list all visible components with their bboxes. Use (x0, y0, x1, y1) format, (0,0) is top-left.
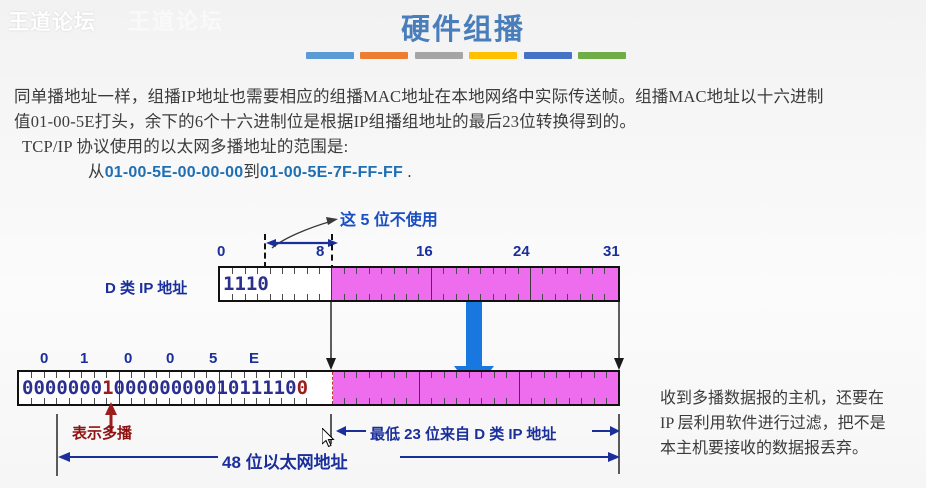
byte-divider (331, 268, 332, 300)
ruler-tick-16: 16 (416, 243, 433, 260)
low23-note: 最低 23 位来自 D 类 IP 地址 (370, 423, 556, 444)
tick (556, 398, 557, 404)
tick (569, 372, 570, 378)
ip-row-label: D 类 IP 地址 (105, 277, 187, 298)
tick (356, 294, 357, 300)
range-suffix: . (403, 162, 412, 181)
ip-bar-multicast-group-segment (331, 268, 618, 300)
mac-multicast-bit: 1 (102, 377, 113, 399)
tick (506, 372, 507, 378)
tick (344, 268, 345, 274)
tick (531, 372, 532, 378)
connector-arrow-right (613, 302, 626, 372)
page-title: 硬件组播 (0, 6, 926, 48)
hex-label-2: 0 (124, 350, 132, 367)
mac-byte1-bits: 0000000 (22, 377, 102, 399)
tick (319, 294, 320, 300)
mac-bit25: 0 (297, 377, 308, 399)
tick (356, 268, 357, 274)
hex-label-1: 1 (80, 350, 88, 367)
unused-bits-span-arrow (264, 236, 340, 250)
tick (443, 268, 444, 274)
tick (542, 294, 543, 300)
tick (418, 294, 419, 300)
tick (394, 268, 395, 274)
tick (594, 372, 595, 378)
total-width-note: 48 位以太网地址 (222, 448, 348, 473)
tick (556, 372, 557, 378)
range-middle: 到 (243, 162, 260, 181)
right-note-line-1: 收到多播数据报的主机，还要在 (660, 386, 922, 411)
tick (406, 372, 407, 378)
tick (406, 294, 407, 300)
tick (406, 268, 407, 274)
mac-bits: 0000000100000000010111100 (22, 377, 308, 399)
tick (505, 294, 506, 300)
tick (481, 372, 482, 378)
unused-bits-left-dash (264, 234, 266, 268)
tick (319, 268, 320, 274)
hex-label-3: 0 (166, 350, 174, 367)
unused-bits-note: 这 5 位不使用 (340, 206, 438, 230)
swatch-5 (578, 52, 626, 59)
tick (456, 268, 457, 274)
tick (369, 294, 370, 300)
mac-byte3-bits: 01011110 (205, 377, 297, 399)
tick (282, 294, 283, 300)
body-line-4: 从01-00-5E-00-00-00到01-00-5E-7F-FF-FF . (14, 159, 914, 185)
hex-label-5: E (249, 350, 259, 367)
mac-range-end: 01-00-5E-7F-FF-FF (260, 164, 403, 181)
tick (381, 398, 382, 404)
tick (431, 398, 432, 404)
tick (344, 294, 345, 300)
ruler-tick-31: 31 (603, 243, 620, 260)
tick (542, 268, 543, 274)
tick (381, 268, 382, 274)
tick (505, 268, 506, 274)
tick (567, 268, 568, 274)
tick (604, 268, 605, 274)
tick (282, 268, 283, 274)
byte-divider (519, 372, 520, 404)
byte-divider (431, 268, 432, 300)
tick (592, 268, 593, 274)
tick (356, 372, 357, 378)
tick (406, 398, 407, 404)
tick (456, 372, 457, 378)
range-prefix: 从 (88, 162, 105, 181)
swatch-2 (415, 52, 463, 59)
tick (456, 398, 457, 404)
total-left-bracket (56, 414, 58, 476)
tick (581, 398, 582, 404)
byte-divider (419, 372, 420, 404)
tick (580, 268, 581, 274)
tick (307, 294, 308, 300)
right-note-line-2: IP 层利用软件进行过滤，把不是 (660, 411, 922, 436)
mac-address-bar: 0000000100000000010111100 (17, 370, 620, 406)
tick (468, 294, 469, 300)
low23-right-arrow (592, 424, 620, 438)
ip-address-bar: 1110 (218, 266, 620, 302)
tick (381, 372, 382, 378)
tick (369, 372, 370, 378)
tick (518, 294, 519, 300)
tick (518, 268, 519, 274)
low23-right-bracket (618, 414, 620, 474)
title-swatch-row (306, 52, 626, 59)
tick (506, 398, 507, 404)
tick (369, 268, 370, 274)
tick (294, 268, 295, 274)
tick (555, 268, 556, 274)
tick (270, 268, 271, 274)
swatch-1 (360, 52, 408, 59)
swatch-0 (306, 52, 354, 59)
tick (493, 268, 494, 274)
hex-label-4: 5 (209, 350, 217, 367)
tick (344, 398, 345, 404)
tick (270, 294, 271, 300)
tick (481, 398, 482, 404)
tick (567, 294, 568, 300)
byte-divider (530, 268, 531, 300)
mac-bit25-dash (332, 372, 333, 404)
ip-prefix-bits: 1110 (223, 273, 269, 295)
tick (394, 398, 395, 404)
tick (494, 398, 495, 404)
right-note-line-3: 本主机要接收的数据报丢弃。 (660, 436, 922, 461)
tick (494, 372, 495, 378)
tick (294, 294, 295, 300)
body-line-1: 同单播地址一样，组播IP地址也需要相应的组播MAC地址在本地网络中实际传送帧。组… (14, 84, 914, 109)
tick (594, 398, 595, 404)
tick (493, 294, 494, 300)
slide-stage: 王道论坛 王道论坛 硬件组播 同单播地址一样，组播IP地址也需要相应的组播MAC… (0, 0, 926, 488)
tick (456, 294, 457, 300)
tick (469, 398, 470, 404)
tick (469, 372, 470, 378)
tick (531, 398, 532, 404)
tick (468, 268, 469, 274)
mac-bar-low23-segment (333, 372, 618, 404)
tick (431, 372, 432, 378)
tick (381, 294, 382, 300)
total-right-arrow (400, 450, 620, 464)
tick (394, 372, 395, 378)
tick (480, 294, 481, 300)
tick (480, 268, 481, 274)
tick (569, 398, 570, 404)
ruler-tick-0: 0 (217, 243, 225, 260)
swatch-4 (524, 52, 572, 59)
tick (555, 294, 556, 300)
multicast-indicator-note: 表示多播 (72, 422, 132, 443)
tick (444, 372, 445, 378)
tick (444, 398, 445, 404)
mac-range-start: 01-00-5E-00-00-00 (105, 164, 244, 181)
tick (356, 398, 357, 404)
tick (606, 372, 607, 378)
tick (443, 294, 444, 300)
tick (369, 398, 370, 404)
mac-top-arrow-left (325, 330, 338, 374)
tick (580, 294, 581, 300)
mac-byte2-bits: 00000000 (114, 377, 206, 399)
tick (592, 294, 593, 300)
tick (307, 268, 308, 274)
tick (544, 372, 545, 378)
body-line-3: TCP/IP 协议使用的以太网多播地址的范围是: (14, 134, 914, 159)
mouse-cursor-icon (322, 428, 336, 448)
tick (606, 398, 607, 404)
ruler-tick-24: 24 (513, 243, 530, 260)
body-line-2: 值01-00-5E打头，余下的6个十六进制位是根据IP组播组地址的最后23位转换… (14, 109, 914, 134)
tick (544, 398, 545, 404)
body-paragraph: 同单播地址一样，组播IP地址也需要相应的组播MAC地址在本地网络中实际传送帧。组… (14, 84, 914, 185)
total-left-arrow (58, 450, 218, 464)
tick (394, 294, 395, 300)
right-note-paragraph: 收到多播数据报的主机，还要在 IP 层利用软件进行过滤，把不是 本主机要接收的数… (660, 386, 922, 461)
swatch-3 (469, 52, 517, 59)
tick (604, 294, 605, 300)
low23-left-arrow (336, 424, 366, 438)
tick (344, 372, 345, 378)
hex-label-0: 0 (40, 350, 48, 367)
ruler-tick-8: 8 (316, 243, 324, 260)
tick (581, 372, 582, 378)
tick (418, 268, 419, 274)
